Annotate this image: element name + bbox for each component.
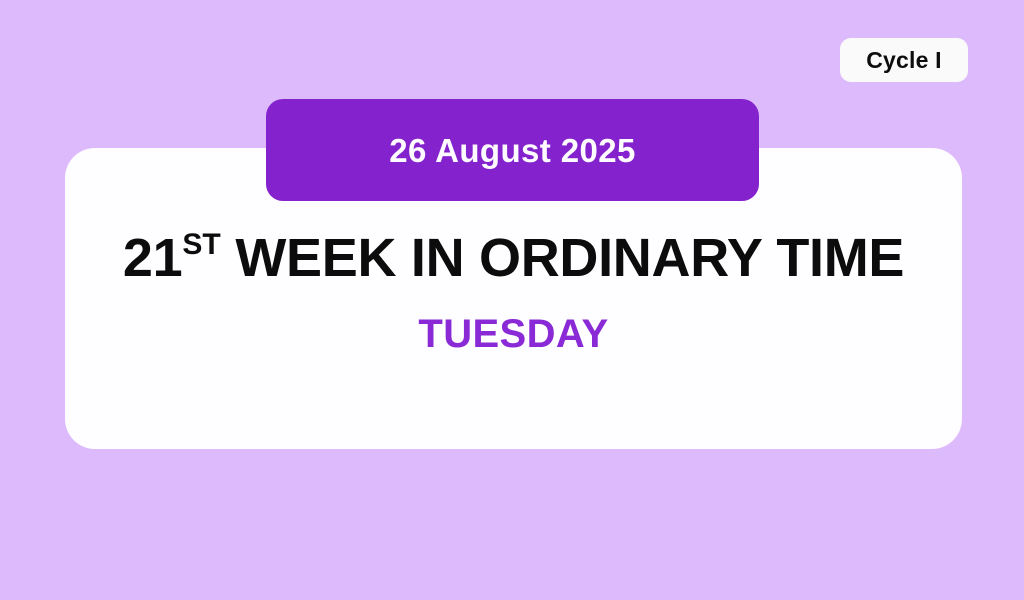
date-label: 26 August 2025 [389, 134, 635, 167]
week-number: 21 [123, 228, 182, 288]
week-title: 21ST WEEK IN ORDINARY TIME [123, 231, 904, 285]
liturgical-day-card-screen: Cycle I 26 August 2025 21ST WEEK IN ORDI… [0, 0, 1024, 600]
cycle-badge-label: Cycle I [866, 49, 942, 72]
week-ordinal-suffix: ST [182, 228, 220, 261]
card-content: 21ST WEEK IN ORDINARY TIME TUESDAY [65, 201, 962, 449]
week-title-rest: WEEK IN ORDINARY TIME [221, 228, 904, 288]
cycle-badge: Cycle I [840, 38, 968, 82]
date-banner: 26 August 2025 [266, 99, 759, 201]
weekday-label: TUESDAY [418, 314, 608, 354]
